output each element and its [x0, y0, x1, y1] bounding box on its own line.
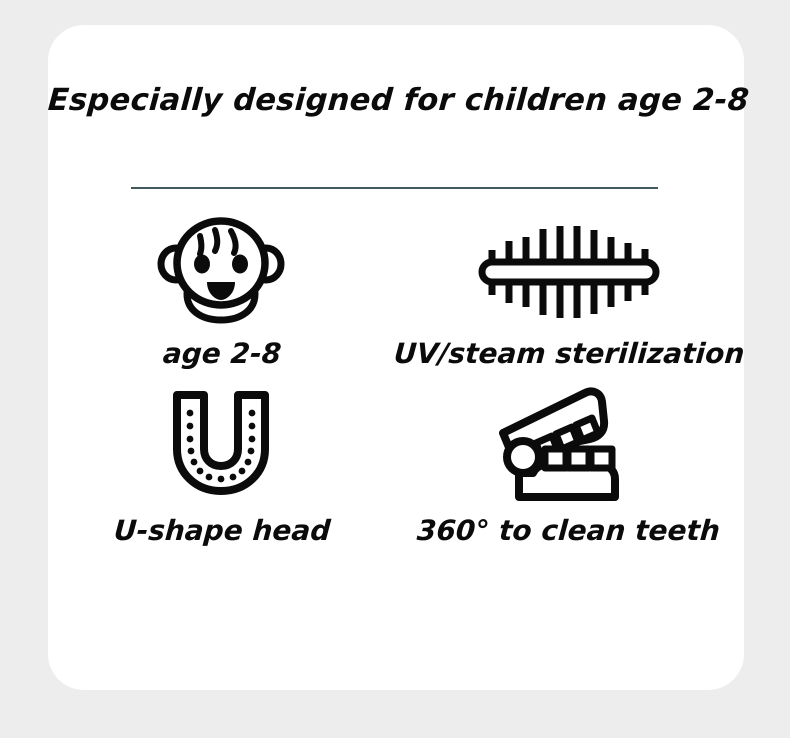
- feature-grid: age 2-8: [48, 213, 744, 547]
- feature-item-clean-coverage: 360° to clean teeth: [394, 382, 744, 547]
- u-shape-brush-head-icon: [160, 382, 282, 508]
- feature-card: Especially designed for children age 2-8: [48, 25, 744, 690]
- feature-label-age-range: age 2-8: [161, 337, 282, 370]
- page-root: Especially designed for children age 2-8: [0, 0, 790, 738]
- title-divider: [131, 187, 658, 189]
- page-title: Especially designed for children age 2-8: [47, 83, 745, 118]
- feature-item-u-shape-head: U-shape head: [48, 382, 394, 547]
- feature-item-age-range: age 2-8: [48, 213, 394, 370]
- feature-label-u-shape-head: U-shape head: [112, 514, 331, 547]
- feature-label-sterilization: UV/steam sterilization: [392, 337, 745, 370]
- feature-label-clean-coverage: 360° to clean teeth: [416, 514, 721, 547]
- uv-steam-rays-icon: [478, 213, 660, 331]
- baby-face-icon: [157, 213, 285, 331]
- feature-item-sterilization: UV/steam sterilization: [394, 213, 744, 370]
- jaw-teeth-icon: [489, 382, 649, 508]
